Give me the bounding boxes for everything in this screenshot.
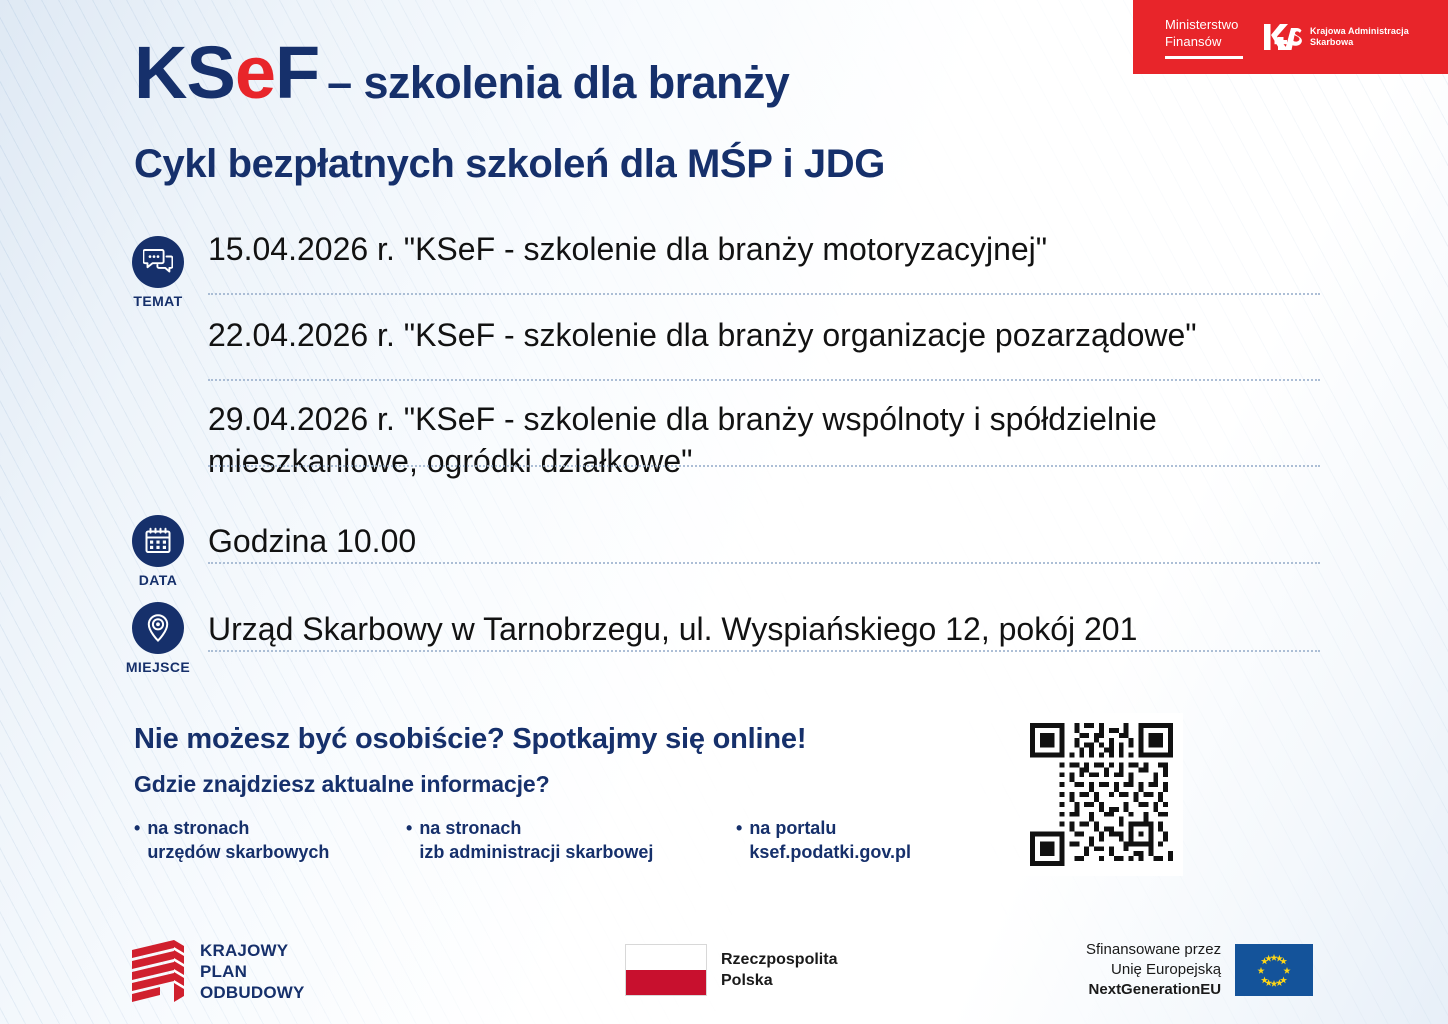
calendar-icon xyxy=(144,527,172,555)
eu-funding-label: Sfinansowane przez Unię Europejską NextG… xyxy=(1086,940,1221,1000)
bullet-line1: na stronach xyxy=(419,816,653,840)
online-heading: Nie możesz być osobiście? Spotkajmy się … xyxy=(134,723,806,756)
list-item: • na stronach urzędów skarbowych xyxy=(134,816,406,864)
list-item: • na portalu ksef.podatki.gov.pl xyxy=(736,816,911,864)
page-subtitle: Cykl bezpłatnych szkoleń dla MŚP i JDG xyxy=(134,142,885,187)
online-subheading: Gdzie znajdziesz aktualne informacje? xyxy=(134,771,550,798)
eu-funding-logo: Sfinansowane przez Unię Europejską NextG… xyxy=(1086,940,1313,1000)
bullet-line1: na portalu xyxy=(749,816,911,840)
republic-label: Rzeczpospolita Polska xyxy=(721,949,837,991)
republic-of-poland-logo: Rzeczpospolita Polska xyxy=(625,944,837,996)
poster-canvas: Ministerstwo Finansów Krajowa Administra… xyxy=(0,0,1448,1024)
bullet-line2: urzędów skarbowych xyxy=(147,840,329,864)
kpo-line2: PLAN xyxy=(200,961,305,982)
date-icon-circle xyxy=(132,515,184,567)
qr-code-icon[interactable] xyxy=(1030,723,1173,866)
title-remainder: – szkolenia dla branży xyxy=(327,57,789,108)
kas-label-line2: Skarbowa xyxy=(1310,37,1409,48)
kas-label: Krajowa Administracja Skarbowa xyxy=(1310,26,1409,48)
place-icon-block: MIEJSCE xyxy=(110,602,206,675)
place-caption: MIEJSCE xyxy=(110,659,206,675)
separator-5 xyxy=(208,650,1320,652)
chat-bubbles-icon xyxy=(143,248,173,276)
brand-f: F xyxy=(275,31,319,114)
ministry-banner: Ministerstwo Finansów Krajowa Administra… xyxy=(1133,0,1448,74)
kas-label-line1: Krajowa Administracja xyxy=(1310,26,1409,37)
separator-1 xyxy=(208,293,1320,295)
map-pin-icon xyxy=(145,613,171,643)
kpo-line1: KRAJOWY xyxy=(200,940,305,961)
poland-flag-icon xyxy=(625,944,707,996)
topic-icon-circle xyxy=(132,236,184,288)
kas-monogram-icon xyxy=(1263,20,1303,54)
date-icon-block: DATA xyxy=(110,515,206,588)
bullet-dot-icon: • xyxy=(134,816,140,840)
topic-item-3: 29.04.2026 r. "KSeF - szkolenie dla bran… xyxy=(208,398,1338,482)
kpo-label: KRAJOWY PLAN ODBUDOWY xyxy=(200,940,305,1003)
separator-3 xyxy=(208,465,1320,467)
ministry-finance-logo: Ministerstwo Finansów xyxy=(1165,15,1243,59)
bullet-text: na stronach izb administracji skarbowej xyxy=(419,816,653,864)
eu-line2: Unię Europejską xyxy=(1086,960,1221,980)
ministry-name-line2: Finansów xyxy=(1165,32,1243,49)
ministry-name-line1: Ministerstwo xyxy=(1165,15,1243,32)
date-value: Godzina 10.00 xyxy=(208,520,416,562)
qr-code-container[interactable] xyxy=(1020,713,1183,876)
list-item: • na stronach izb administracji skarbowe… xyxy=(406,816,736,864)
date-caption: DATA xyxy=(110,572,206,588)
bullet-line2: izb administracji skarbowej xyxy=(419,840,653,864)
ministry-underline xyxy=(1165,56,1243,59)
kpo-logo: KRAJOWY PLAN ODBUDOWY xyxy=(130,938,305,1004)
bullet-text: na portalu ksef.podatki.gov.pl xyxy=(749,816,911,864)
info-sources-list: • na stronach urzędów skarbowych • na st… xyxy=(134,816,994,864)
kas-logo: Krajowa Administracja Skarbowa xyxy=(1263,20,1409,54)
place-value: Urząd Skarbowy w Tarnobrzegu, ul. Wyspia… xyxy=(208,608,1137,650)
separator-4 xyxy=(208,562,1320,564)
eu-line3: NextGenerationEU xyxy=(1086,980,1221,1000)
bullet-dot-icon: • xyxy=(736,816,742,840)
brand-ks: KS xyxy=(134,31,235,114)
topic-icon-block: TEMAT xyxy=(110,236,206,309)
republic-line1: Rzeczpospolita xyxy=(721,949,837,970)
european-union-flag-icon xyxy=(1235,944,1313,996)
flag-stripe-white xyxy=(626,945,706,970)
krajowy-plan-odbudowy-icon xyxy=(130,938,186,1004)
place-icon-circle xyxy=(132,602,184,654)
topic-item-2: 22.04.2026 r. "KSeF - szkolenie dla bran… xyxy=(208,314,1197,356)
separator-2 xyxy=(208,379,1320,381)
kpo-line3: ODBUDOWY xyxy=(200,982,305,1003)
topic-item-1: 15.04.2026 r. "KSeF - szkolenie dla bran… xyxy=(208,228,1047,270)
brand-e: e xyxy=(235,31,275,114)
bullet-text: na stronach urzędów skarbowych xyxy=(147,816,329,864)
topic-caption: TEMAT xyxy=(110,293,206,309)
page-title: KSeF– szkolenia dla branży xyxy=(134,36,789,110)
bullet-line1: na stronach xyxy=(147,816,329,840)
republic-line2: Polska xyxy=(721,970,837,991)
eu-line1: Sfinansowane przez xyxy=(1086,940,1221,960)
flag-stripe-red xyxy=(626,970,706,995)
brand-ksef: KSeF xyxy=(134,31,319,114)
bullet-dot-icon: • xyxy=(406,816,412,840)
bullet-line2: ksef.podatki.gov.pl xyxy=(749,840,911,864)
